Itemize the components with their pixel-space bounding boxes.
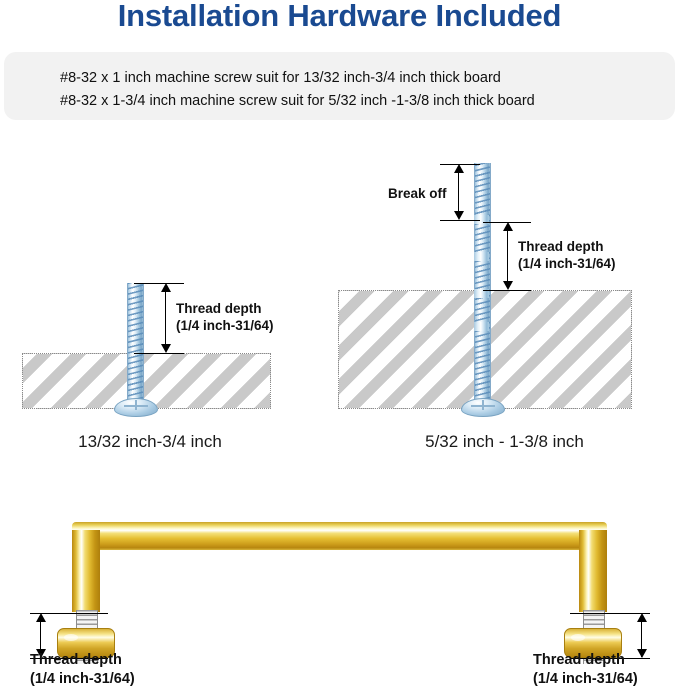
thread-depth-label-left: Thread depth (1/4 inch-31/64) — [176, 300, 274, 334]
thread-depth-label-right-line2: (1/4 inch-31/64) — [518, 255, 616, 272]
break-off-label: Break off — [388, 185, 447, 202]
dim-arrow-down-left — [161, 344, 171, 353]
handle-thread-depth-right-line1: Thread depth — [533, 651, 638, 670]
handle-thread-depth-right-line2: (1/4 inch-31/64) — [533, 670, 638, 689]
handle-thread-depth-left-line2: (1/4 inch-31/64) — [30, 670, 135, 689]
spec-callout-box: #8-32 x 1 inch machine screw suit for 13… — [4, 52, 675, 120]
screw-smooth-band-bottom — [474, 322, 489, 331]
handle-dim-arrow-down-right — [637, 649, 647, 658]
screw-shaft-left — [127, 283, 144, 409]
screw-head-slot-left — [124, 405, 148, 407]
screw-smooth-band-mid — [474, 252, 489, 261]
dim-arrow-up-left — [161, 283, 171, 292]
dim-line-right — [507, 224, 508, 288]
handle-dim-arrow-up-right — [637, 613, 647, 622]
spec-line-short-screw: #8-32 x 1 inch machine screw suit for 13… — [60, 70, 501, 86]
handle-thread-depth-left-line1: Thread depth — [30, 651, 135, 670]
dim-arrow-down-right — [503, 281, 513, 290]
screw-shaft-right — [474, 163, 491, 409]
handle-thread-depth-label-left: Thread depth (1/4 inch-31/64) — [30, 651, 135, 689]
handle-dim-arrow-up-left — [36, 613, 46, 622]
handle-leg-left — [72, 530, 100, 612]
screw-head-right — [461, 398, 505, 417]
dim-tick-bottom-left — [134, 353, 184, 354]
page-title: Installation Hardware Included — [0, 0, 679, 34]
handle-leg-right — [579, 530, 607, 612]
thread-depth-label-left-line2: (1/4 inch-31/64) — [176, 317, 274, 334]
screw-head-slot-right — [471, 405, 495, 407]
dim-tick-bottom-breakoff — [440, 220, 480, 221]
spec-line-long-screw: #8-32 x 1-3/4 inch machine screw suit fo… — [60, 93, 535, 109]
dim-arrow-up-right — [503, 222, 513, 231]
dim-tick-top-left — [134, 283, 184, 284]
handle-grip-bar — [72, 522, 607, 550]
handle-thread-depth-label-right: Thread depth (1/4 inch-31/64) — [533, 651, 638, 689]
thread-depth-label-left-line1: Thread depth — [176, 300, 274, 317]
thread-depth-label-right: Thread depth (1/4 inch-31/64) — [518, 238, 616, 272]
dim-arrow-down-breakoff — [454, 211, 464, 220]
thread-depth-label-right-line1: Thread depth — [518, 238, 616, 255]
handle-illustration — [0, 500, 679, 635]
dim-tick-bottom-right — [483, 290, 531, 291]
caption-left-board-thickness: 13/32 inch-3/4 inch — [0, 432, 300, 452]
screw-head-left — [114, 398, 158, 417]
dim-arrow-up-breakoff — [454, 164, 464, 173]
caption-right-board-thickness: 5/32 inch - 1-3/8 inch — [330, 432, 679, 452]
dim-line-left — [165, 285, 166, 351]
